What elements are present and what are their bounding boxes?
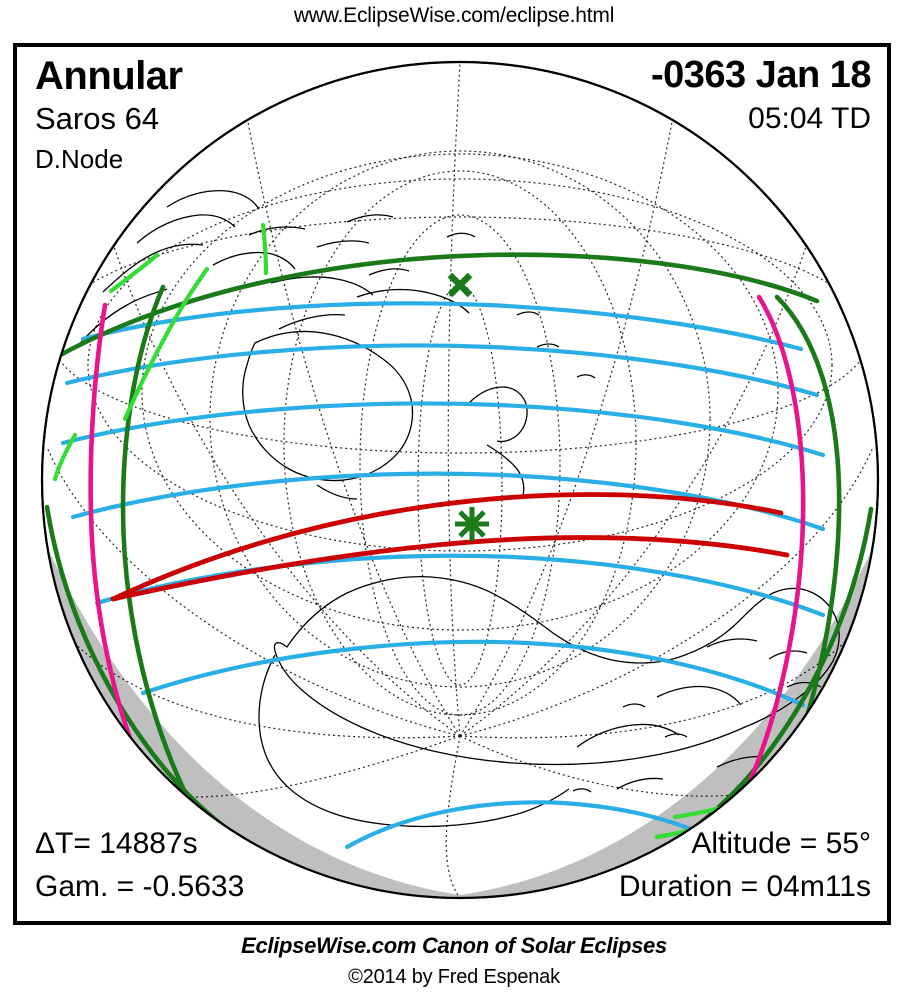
eclipse-type-label: Annular	[35, 56, 183, 96]
saros-series-label: Saros 64	[35, 103, 159, 134]
eclipse-date-label: -0363 Jan 18	[651, 56, 871, 94]
eclipse-time-label: 05:04 TD	[748, 104, 871, 134]
eclipse-map-frame: Annular Saros 64 D.Node -0363 Jan 18 05:…	[13, 43, 891, 925]
copyright-caption: ©2014 by Fred Espenak	[0, 966, 908, 989]
source-url-label: www.EclipseWise.com/eclipse.html	[0, 4, 908, 28]
delta-t-label: ΔT= 14887s	[35, 829, 198, 859]
orthographic-globe-map	[17, 47, 887, 921]
eclipse-map-page: www.EclipseWise.com/eclipse.html	[0, 0, 908, 1004]
node-label: D.Node	[35, 146, 123, 172]
greatest-eclipse-asterisk	[455, 507, 489, 541]
canon-caption: EclipseWise.com Canon of Solar Eclipses	[0, 933, 908, 959]
altitude-label: Altitude = 55°	[691, 829, 871, 859]
duration-label: Duration = 04m11s	[619, 872, 871, 902]
gamma-label: Gam. = -0.5633	[35, 872, 244, 902]
